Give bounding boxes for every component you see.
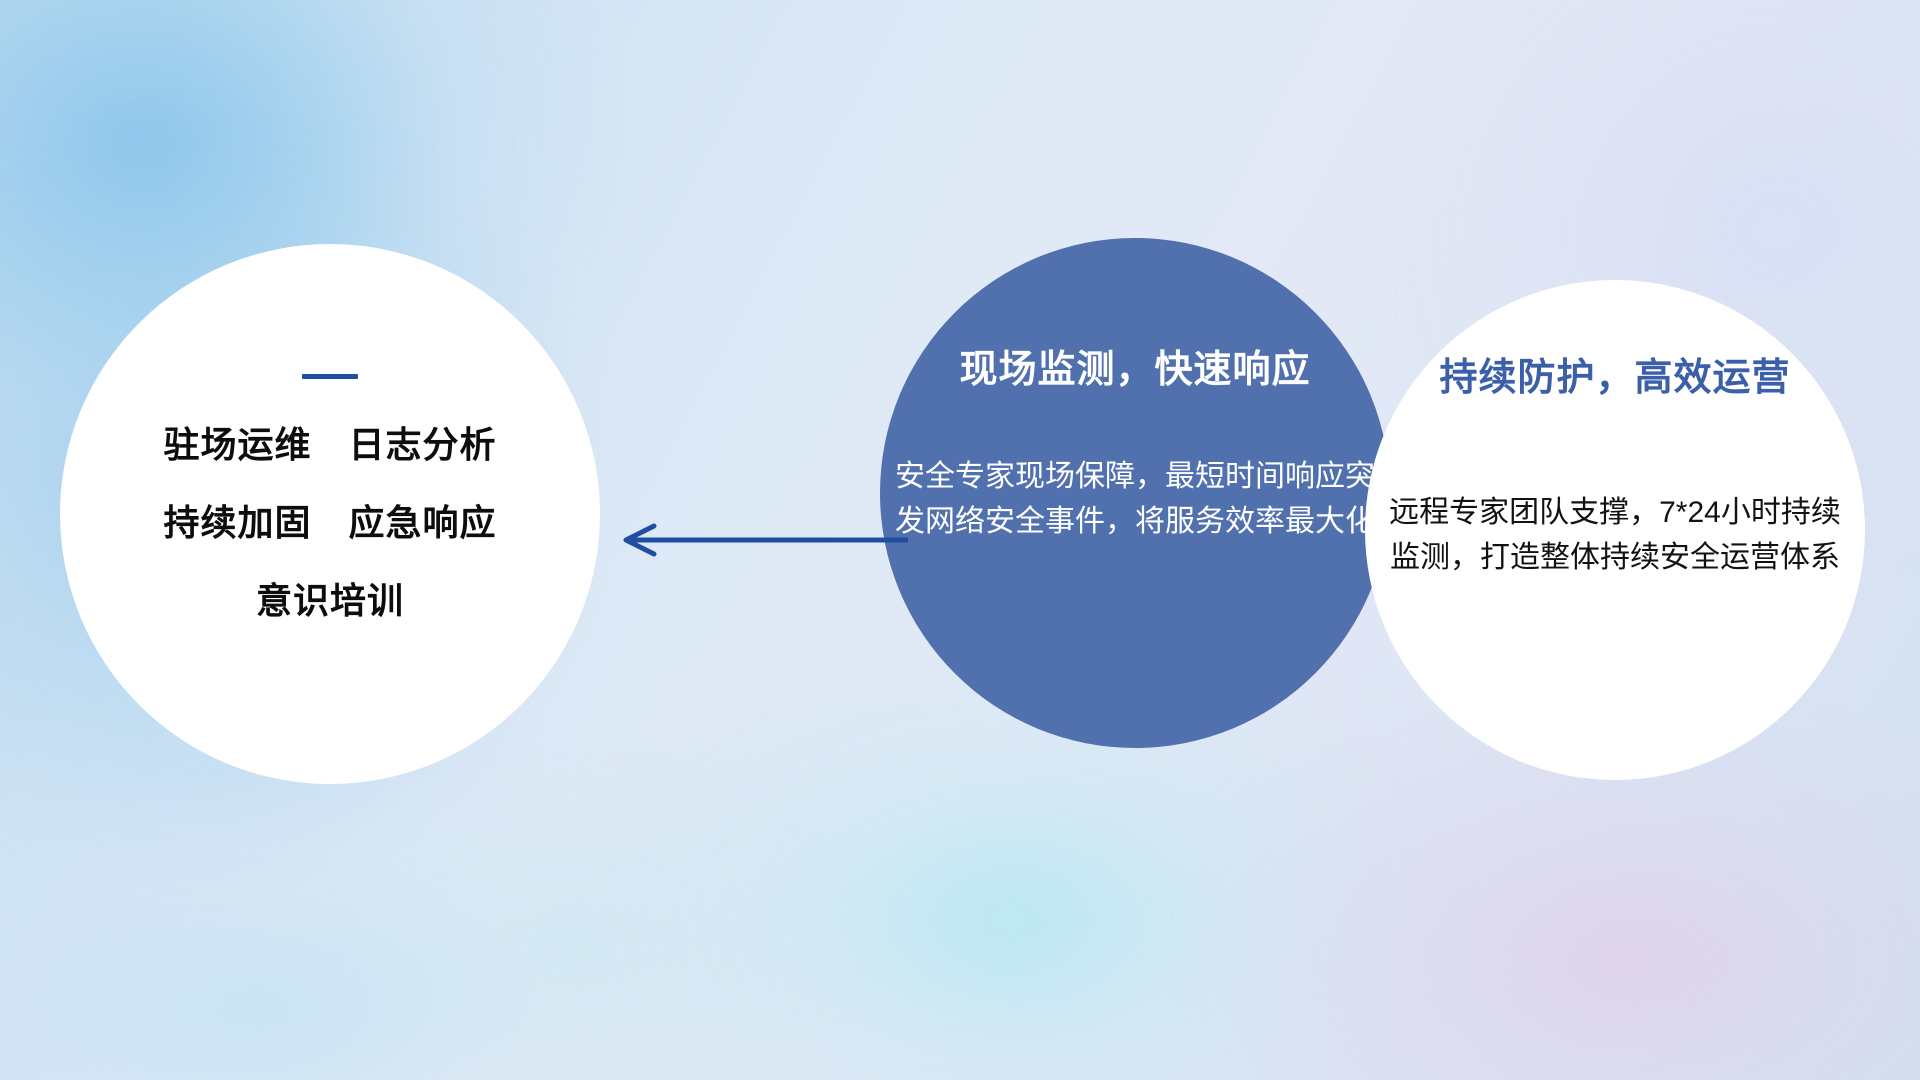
capability-line-2: 持续加固 应急响应 xyxy=(60,505,600,541)
onsite-monitoring-content: 现场监测，快速响应 安全专家现场保障，最短时间响应突发网络安全事件，将服务效率最… xyxy=(840,350,1430,545)
left-arrow-icon xyxy=(610,520,910,560)
continuous-protection-body: 远程专家团队支撑，7*24小时持续监测，打造整体持续安全运营体系 xyxy=(1355,490,1875,581)
capability-line-3: 意识培训 xyxy=(60,583,600,619)
onsite-monitoring-title: 现场监测，快速响应 xyxy=(840,350,1430,392)
capability-line-1: 驻场运维 日志分析 xyxy=(60,427,600,463)
onsite-monitoring-circle[interactable]: 现场监测，快速响应 安全专家现场保障，最短时间响应突发网络安全事件，将服务效率最… xyxy=(880,238,1390,748)
slide-canvas: 现场监测，快速响应 安全专家现场保障，最短时间响应突发网络安全事件，将服务效率最… xyxy=(0,0,1920,1080)
continuous-protection-circle[interactable]: 持续防护，高效运营 远程专家团队支撑，7*24小时持续监测，打造整体持续安全运营… xyxy=(1365,280,1865,780)
onsite-monitoring-body: 安全专家现场保障，最短时间响应突发网络安全事件，将服务效率最大化 xyxy=(840,454,1430,545)
continuous-protection-title: 持续防护，高效运营 xyxy=(1355,358,1875,400)
continuous-protection-content: 持续防护，高效运营 远程专家团队支撑，7*24小时持续监测，打造整体持续安全运营… xyxy=(1355,358,1875,581)
flow-arrow xyxy=(610,520,910,560)
capability-circle[interactable]: 驻场运维 日志分析 持续加固 应急响应 意识培训 xyxy=(60,244,600,784)
divider-dash-icon xyxy=(302,374,358,379)
background-glow-corner-left xyxy=(0,880,520,1080)
capability-content: 驻场运维 日志分析 持续加固 应急响应 意识培训 xyxy=(60,374,600,619)
